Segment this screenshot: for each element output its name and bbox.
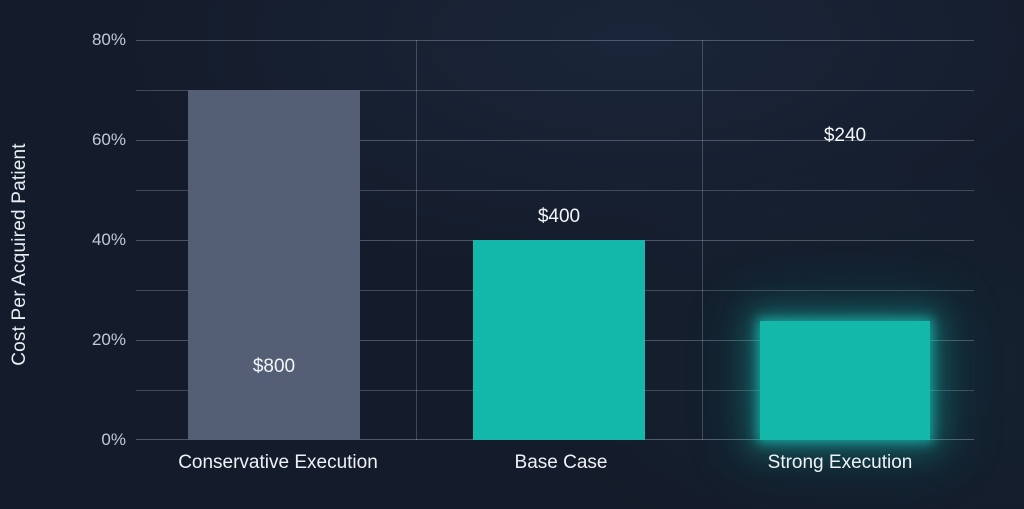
y-tick-label-80: 80% bbox=[62, 30, 126, 50]
plot-area: $800 $400 $240 bbox=[136, 40, 974, 440]
x-axis-label-strong-execution: Strong Execution bbox=[706, 452, 974, 474]
bar-strong-execution[interactable] bbox=[760, 321, 930, 440]
y-tick-label-0: 0% bbox=[62, 430, 126, 450]
bar-value-label-base-case: $400 bbox=[473, 206, 645, 228]
bar-value-label-conservative-execution: $800 bbox=[188, 356, 360, 378]
y-tick-label-20: 20% bbox=[62, 330, 126, 350]
bar-value-label-strong-execution: $240 bbox=[760, 125, 930, 147]
gridline-80 bbox=[136, 40, 974, 41]
bar-base-case[interactable] bbox=[473, 240, 645, 440]
category-divider-2 bbox=[702, 40, 703, 440]
y-axis-title: Cost Per Acquired Patient bbox=[0, 0, 40, 509]
bar-conservative-execution[interactable] bbox=[188, 90, 360, 440]
x-axis-label-conservative-execution: Conservative Execution bbox=[140, 452, 416, 474]
x-axis-label-base-case: Base Case bbox=[420, 452, 702, 474]
bar-chart: Cost Per Acquired Patient 80% 60% 40% 20… bbox=[0, 0, 1024, 509]
y-tick-label-60: 60% bbox=[62, 130, 126, 150]
category-divider-1 bbox=[416, 40, 417, 440]
y-tick-label-40: 40% bbox=[62, 230, 126, 250]
